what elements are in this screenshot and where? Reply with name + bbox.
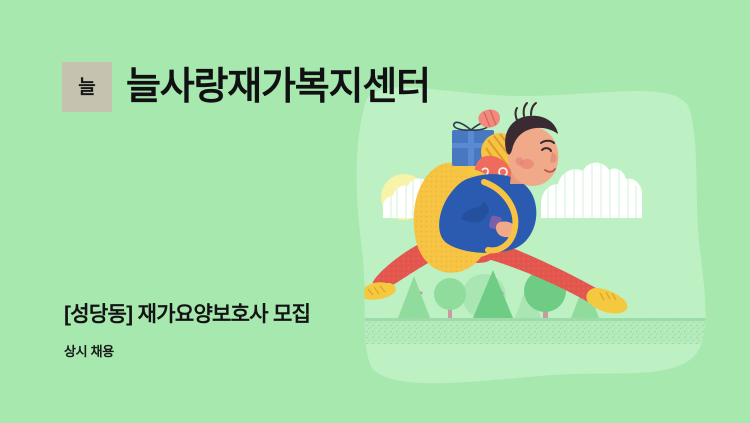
background-bushes	[462, 274, 541, 318]
gift-sack	[414, 156, 490, 273]
shoe-back	[361, 282, 396, 300]
sleeve-cuff	[488, 215, 502, 230]
decorated-egg	[474, 156, 515, 205]
shoe-front	[586, 288, 627, 313]
scene-blob	[357, 87, 706, 383]
tree-row	[398, 270, 599, 322]
tree-pine	[571, 282, 599, 322]
job-posting-title: [성당동] 재가요양보호사 모집	[64, 302, 310, 327]
tree-pine	[398, 276, 430, 322]
tree-pine	[473, 270, 513, 322]
runner-figure	[361, 103, 628, 313]
torso-shirt	[439, 174, 536, 253]
job-posting-subtitle: 상시 채용	[64, 341, 310, 360]
bent-arm	[454, 200, 516, 237]
cloud-right	[541, 158, 642, 222]
tree-round	[524, 270, 566, 322]
posting-info-block: [성당동] 재가요양보호사 모집 상시 채용	[64, 302, 310, 360]
ground-strip	[340, 318, 740, 344]
gift-box	[452, 122, 494, 166]
candy	[478, 110, 500, 128]
ornament-ball	[481, 133, 519, 171]
job-posting-banner: 늘 늘사랑재가복지센터 [성당동] 재가요양보호사 모집 상시 채용	[0, 0, 750, 423]
sun-shape	[381, 174, 427, 220]
cloud-left	[383, 176, 452, 220]
neul-logo-mark: 늘	[62, 62, 112, 112]
center-name-title: 늘사랑재가복지센터	[126, 68, 430, 106]
tree-round	[434, 278, 466, 322]
center-header: 늘 늘사랑재가복지센터	[62, 62, 430, 112]
runner-head	[505, 103, 558, 186]
logo-glyph-text: 늘	[78, 78, 95, 97]
